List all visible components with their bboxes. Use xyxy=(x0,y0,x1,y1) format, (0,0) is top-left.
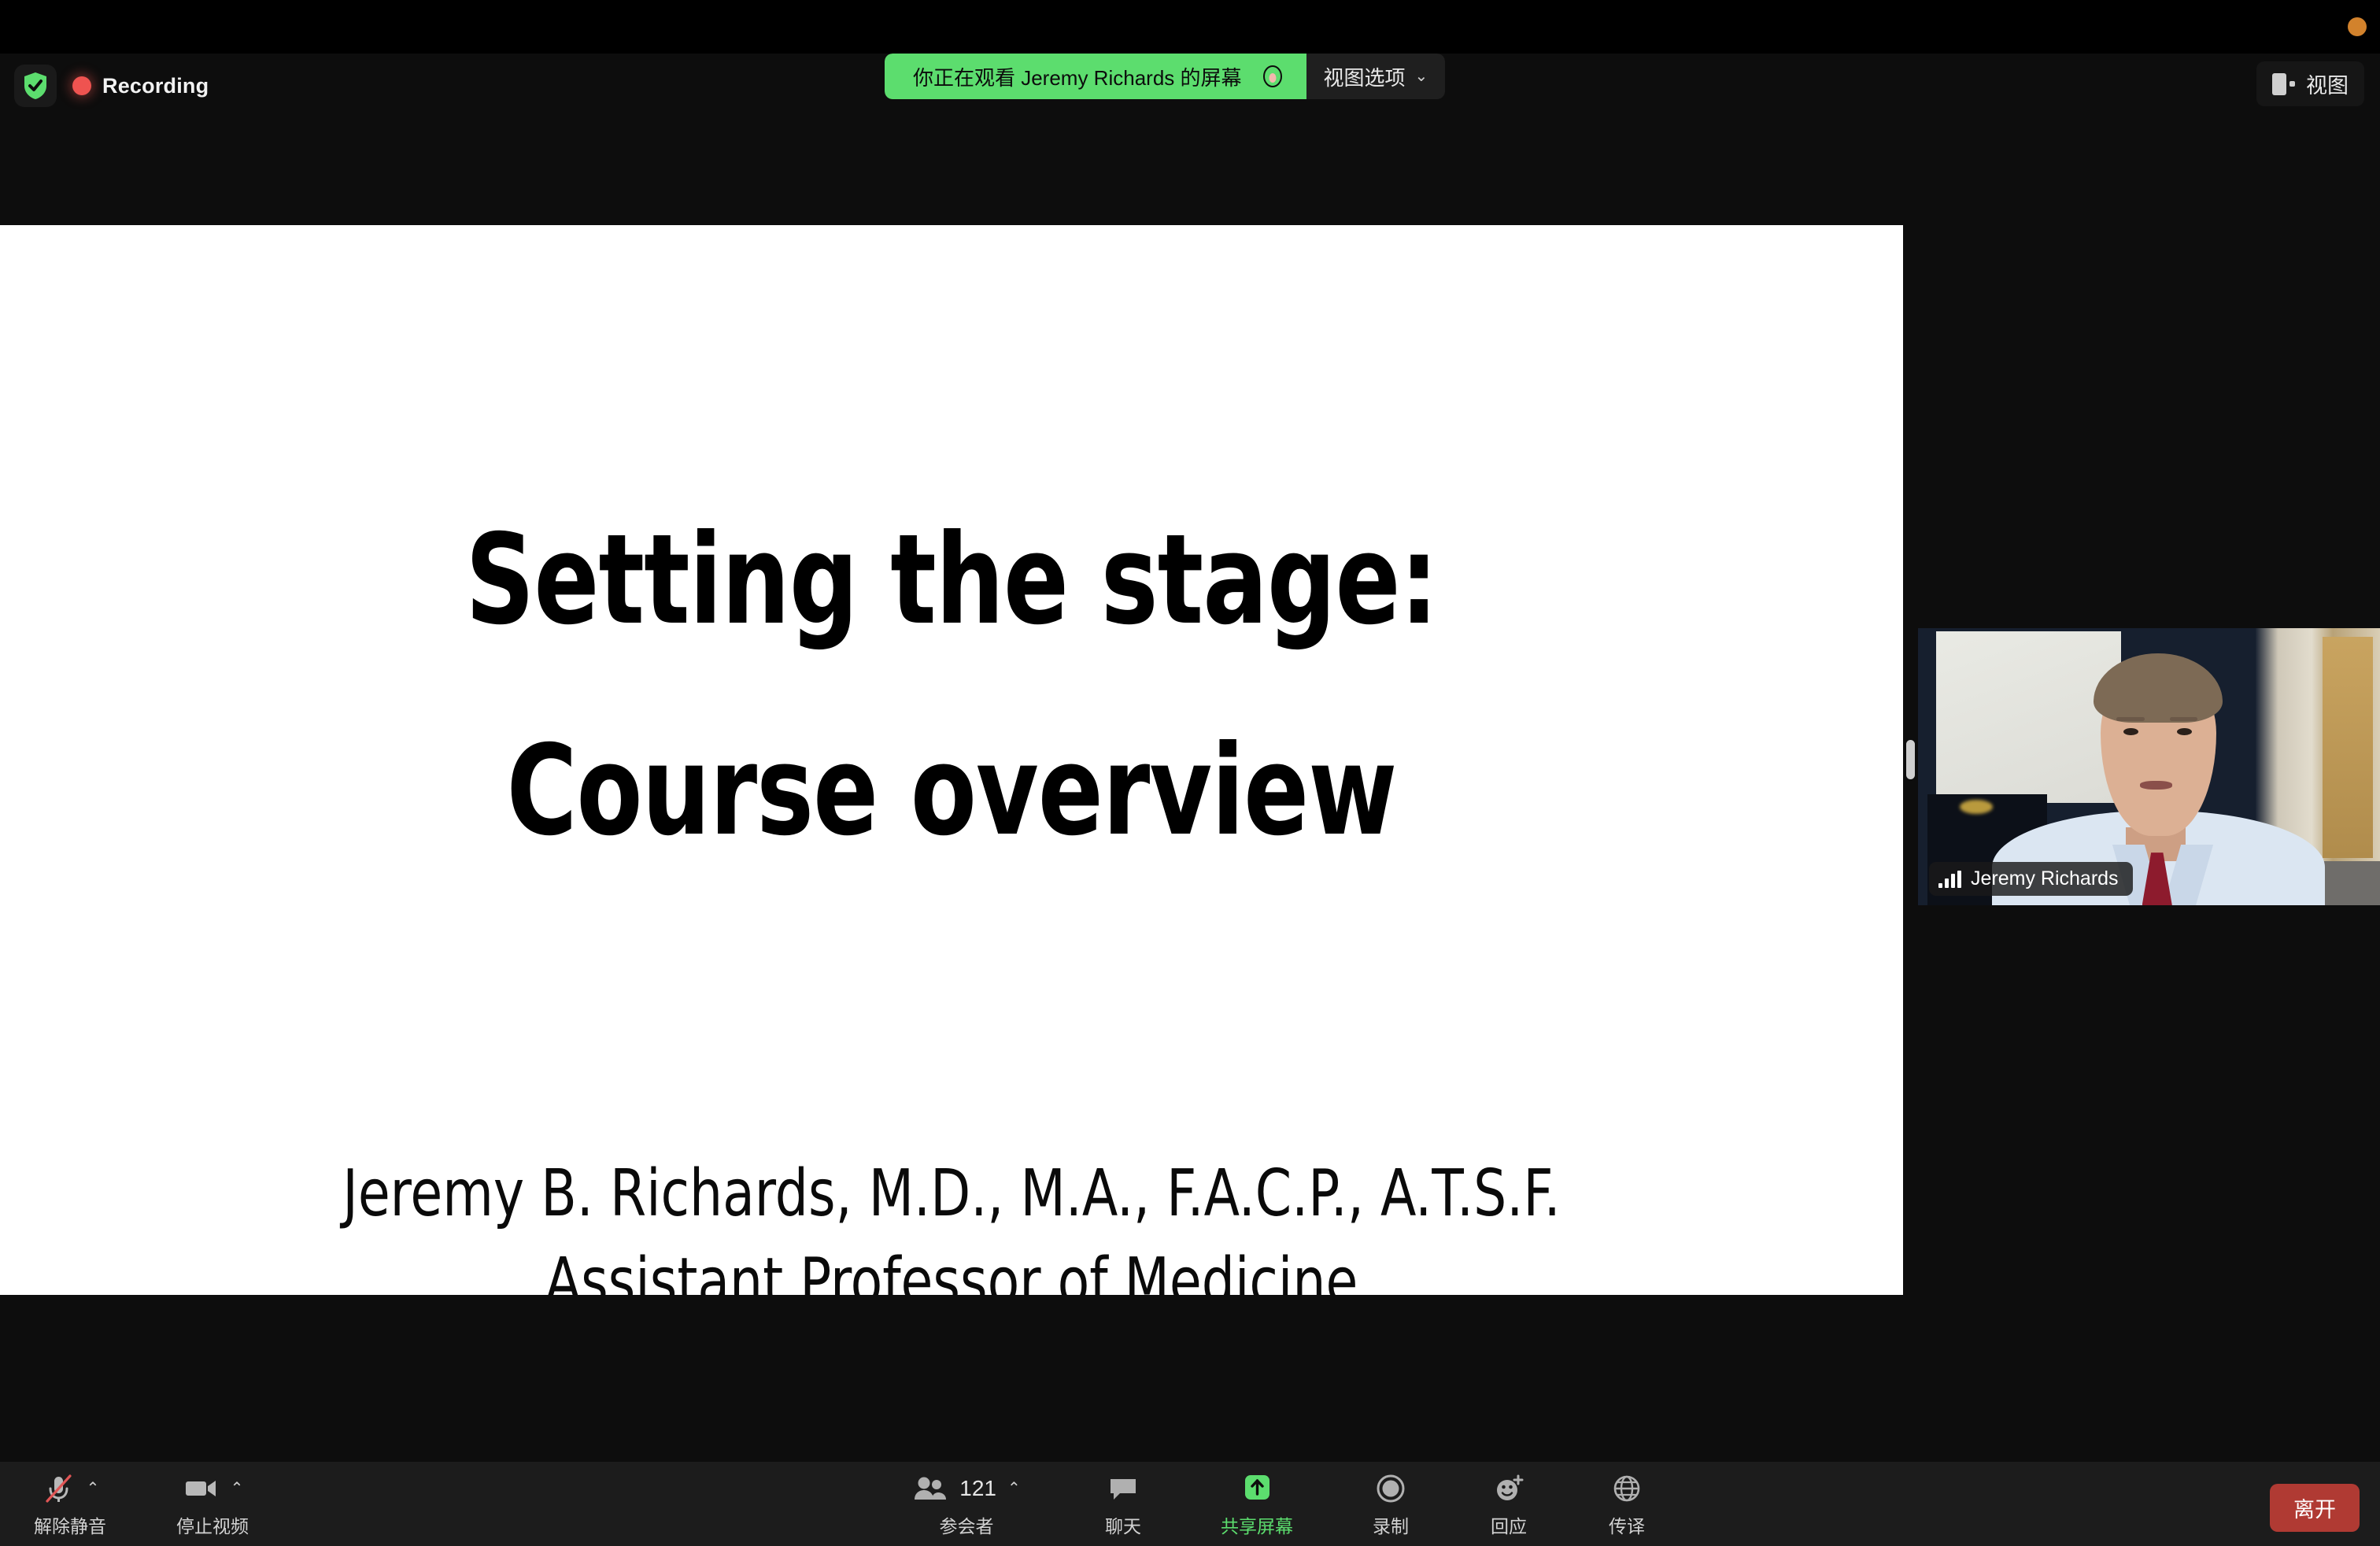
mute-button[interactable]: ⌃ 解除静音 xyxy=(0,1462,140,1546)
participants-button[interactable]: 121 ⌃ 参会者 xyxy=(896,1462,1037,1546)
byline-line-1: Jeremy B. Richards, M.D., M.A., F.A.C.P.… xyxy=(95,1150,1808,1238)
participant-name-badge: Jeremy Richards xyxy=(1929,862,2133,896)
participant-name-label: Jeremy Richards xyxy=(1971,867,2119,890)
layout-view-icon xyxy=(2272,73,2295,95)
mute-label: 解除静音 xyxy=(34,1511,106,1538)
view-options-label: 视图选项 xyxy=(1324,62,1406,91)
slide-title-line2: Course overview xyxy=(133,729,1769,853)
share-screen-button[interactable]: 共享屏幕 xyxy=(1182,1462,1332,1546)
video-options-caret-icon[interactable]: ⌃ xyxy=(231,1481,244,1496)
chevron-down-icon: ⌄ xyxy=(1415,68,1428,84)
panel-drag-handle[interactable] xyxy=(1906,740,1915,779)
zoom-meeting-window: Recording 你正在观看 Jeremy Richards 的屏幕 视图选项… xyxy=(0,0,2380,1546)
participants-icon xyxy=(912,1474,948,1503)
screen-share-status-icon xyxy=(1259,63,1286,90)
mute-options-caret-icon[interactable]: ⌃ xyxy=(87,1481,100,1496)
share-banner-text: 你正在观看 Jeremy Richards 的屏幕 xyxy=(913,62,1242,91)
smiley-plus-icon xyxy=(1491,1472,1526,1505)
shield-check-icon[interactable] xyxy=(14,65,57,107)
record-button[interactable]: 录制 xyxy=(1332,1462,1450,1546)
participant-video-thumbnail[interactable]: Jeremy Richards xyxy=(1918,628,2380,905)
chat-bubble-icon xyxy=(1107,1473,1140,1504)
meeting-toolbar: ⌃ 解除静音 ⌃ 停止视频 121 xyxy=(0,1462,2380,1546)
microphone-muted-icon xyxy=(41,1471,76,1506)
record-circle-icon xyxy=(1374,1472,1407,1505)
camera-icon xyxy=(182,1473,220,1504)
record-label: 录制 xyxy=(1373,1511,1409,1538)
leave-meeting-button[interactable]: 离开 xyxy=(2270,1484,2360,1532)
slide-title-line1: Setting the stage: xyxy=(465,508,1437,653)
shared-screen-slide[interactable]: Setting the stage: Course overview Jerem… xyxy=(0,225,1903,1295)
chat-label: 聊天 xyxy=(1105,1511,1141,1538)
stop-video-button[interactable]: ⌃ 停止视频 xyxy=(140,1462,285,1546)
share-banner-pill: 你正在观看 Jeremy Richards 的屏幕 xyxy=(885,54,1306,99)
system-strip xyxy=(0,0,2380,54)
interpretation-button[interactable]: 传译 xyxy=(1568,1462,1686,1546)
recording-status-cluster: Recording xyxy=(14,65,209,107)
participants-count: 121 xyxy=(959,1476,996,1501)
slide-title: Setting the stage: Course overview xyxy=(133,518,1769,853)
view-layout-button[interactable]: 视图 xyxy=(2256,61,2364,106)
interpretation-label: 传译 xyxy=(1609,1511,1645,1538)
globe-icon xyxy=(1610,1472,1643,1505)
audio-level-bars-icon xyxy=(1938,871,1961,888)
view-button-label: 视图 xyxy=(2306,68,2349,99)
share-screen-up-arrow-icon xyxy=(1238,1471,1276,1506)
slide-byline: Jeremy B. Richards, M.D., M.A., F.A.C.P.… xyxy=(95,1150,1808,1295)
recording-red-dot xyxy=(72,76,91,95)
chat-button[interactable]: 聊天 xyxy=(1064,1462,1182,1546)
view-options-button[interactable]: 视图选项 ⌄ xyxy=(1306,54,1446,99)
participants-caret-icon[interactable]: ⌃ xyxy=(1007,1481,1021,1496)
reactions-label: 回应 xyxy=(1491,1511,1527,1538)
byline-line-2: Assistant Professor of Medicine xyxy=(95,1238,1808,1295)
participants-label: 参会者 xyxy=(940,1511,994,1538)
share-screen-label: 共享屏幕 xyxy=(1221,1511,1293,1538)
camera-in-use-dot xyxy=(2348,17,2367,36)
screen-share-banner: 你正在观看 Jeremy Richards 的屏幕 视图选项 ⌄ xyxy=(885,54,1445,99)
stop-video-label: 停止视频 xyxy=(176,1511,249,1538)
recording-label: Recording xyxy=(102,74,209,98)
reactions-button[interactable]: 回应 xyxy=(1450,1462,1568,1546)
